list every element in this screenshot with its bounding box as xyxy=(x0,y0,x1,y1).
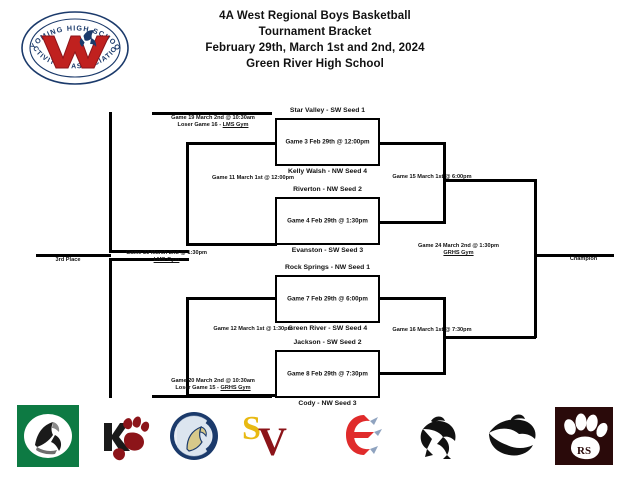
game-19-line-1: Game 19 March 2nd @ 10:30am xyxy=(171,115,255,121)
championship-connector-vertical xyxy=(534,179,537,338)
title-line-4: Green River High School xyxy=(140,56,490,72)
whsaa-logo: WYOMING HIGH SCHOOL ACTIVITIES ASSOCIATI… xyxy=(18,8,132,88)
game-11-label: Game 11 March 1st @ 12:00pm xyxy=(193,175,313,182)
page-title: 4A West Regional Boys Basketball Tournam… xyxy=(140,8,490,72)
title-line-3: February 29th, March 1st and 2nd, 2024 xyxy=(140,40,490,56)
game-23-venue: LMS Gym xyxy=(154,257,180,263)
game-16-label: Game 16 March 1st @ 7:30pm xyxy=(372,327,492,334)
game-23-label: Game 23 March 2nd @ 1:30pm LMS Gym xyxy=(104,250,229,265)
game-4-box: Game 4 Feb 29th @ 1:30pm xyxy=(275,197,380,245)
game-15-connector-vertical xyxy=(443,142,446,224)
game-20-left-vertical xyxy=(109,258,112,398)
game-23-line-1: Game 23 March 2nd @ 1:30pm xyxy=(126,250,207,256)
svg-text:RS: RS xyxy=(577,445,591,457)
game-11-feed-bottom xyxy=(186,243,277,246)
game-3-box: Game 3 Feb 29th @ 12:00pm xyxy=(275,118,380,166)
third-place-label: 3rd Place xyxy=(38,257,98,263)
team-star-valley: Star Valley - SW Seed 1 xyxy=(265,107,390,114)
game-11-connector-vertical xyxy=(186,142,189,246)
team-evanston: Evanston - SW Seed 3 xyxy=(265,247,390,254)
game-19-left-vertical xyxy=(109,112,112,252)
game-24-venue: GRHS Gym xyxy=(443,250,473,256)
game-7-label: Game 7 Feb 29th @ 6:00pm xyxy=(277,296,378,303)
game-16-feed-from-g8 xyxy=(380,372,445,375)
logo-evanston-red-devils xyxy=(330,405,392,467)
champion-label: Champion xyxy=(556,256,611,262)
school-logo-strip: S V xyxy=(0,405,621,477)
game-4-label: Game 4 Feb 29th @ 1:30pm xyxy=(277,218,378,225)
logo-cody-broncs xyxy=(163,405,225,467)
championship-bottom-line xyxy=(443,336,536,339)
game-19-venue: LMS Gym xyxy=(223,122,249,128)
game-24-label: Game 24 March 2nd @ 1:30pm GRHS Gym xyxy=(396,243,521,258)
game-20-line-1: Game 20 March 2nd @ 10:30am xyxy=(171,378,255,384)
game-15-feed-from-g4 xyxy=(380,221,445,224)
game-15-feed-from-g3 xyxy=(380,142,445,145)
team-rock-springs: Rock Springs - NW Seed 1 xyxy=(265,264,390,271)
game-12-feed-top xyxy=(186,297,277,300)
game-8-label: Game 8 Feb 29th @ 7:30pm xyxy=(277,371,378,378)
title-line-1: 4A West Regional Boys Basketball xyxy=(140,8,490,24)
game-20-bottom-line xyxy=(152,395,272,398)
championship-top-line xyxy=(443,179,536,182)
game-19-label: Game 19 March 2nd @ 10:30am Loser Game 1… xyxy=(152,115,274,130)
logo-rock-springs-claw xyxy=(94,405,156,467)
game-16-feed-from-g7 xyxy=(380,297,445,300)
game-20-venue: GRHS Gym xyxy=(220,385,250,391)
game-11-feed-top xyxy=(186,142,277,145)
bracket-page: WYOMING HIGH SCHOOL ACTIVITIES ASSOCIATI… xyxy=(0,0,621,480)
logo-rock-springs-paw: RS xyxy=(553,405,615,467)
game-3-label: Game 3 Feb 29th @ 12:00pm xyxy=(277,139,378,146)
game-20-label: Game 20 March 2nd @ 10:30am Loser Game 1… xyxy=(152,378,274,393)
game-7-box: Game 7 Feb 29th @ 6:00pm xyxy=(275,275,380,323)
team-riverton: Riverton - NW Seed 2 xyxy=(265,186,390,193)
team-jackson: Jackson - SW Seed 2 xyxy=(265,339,390,346)
logo-jackson-broncs xyxy=(17,405,79,467)
title-line-2: Tournament Bracket xyxy=(140,24,490,40)
game-24-line-1: Game 24 March 2nd @ 1:30pm xyxy=(418,243,499,249)
svg-text:V: V xyxy=(258,419,287,464)
logo-riverton-bronc-rider xyxy=(407,405,469,467)
logo-star-valley: S V xyxy=(236,405,298,467)
game-12-label: Game 12 March 1st @ 1:30pm xyxy=(193,326,313,333)
game-20-line-2-prefix: Loser Game 15 - xyxy=(175,385,220,391)
logo-kelly-walsh-trojans xyxy=(481,405,543,467)
game-8-box: Game 8 Feb 29th @ 7:30pm xyxy=(275,350,380,398)
game-19-line-2-prefix: Loser Game 16 - xyxy=(178,122,223,128)
